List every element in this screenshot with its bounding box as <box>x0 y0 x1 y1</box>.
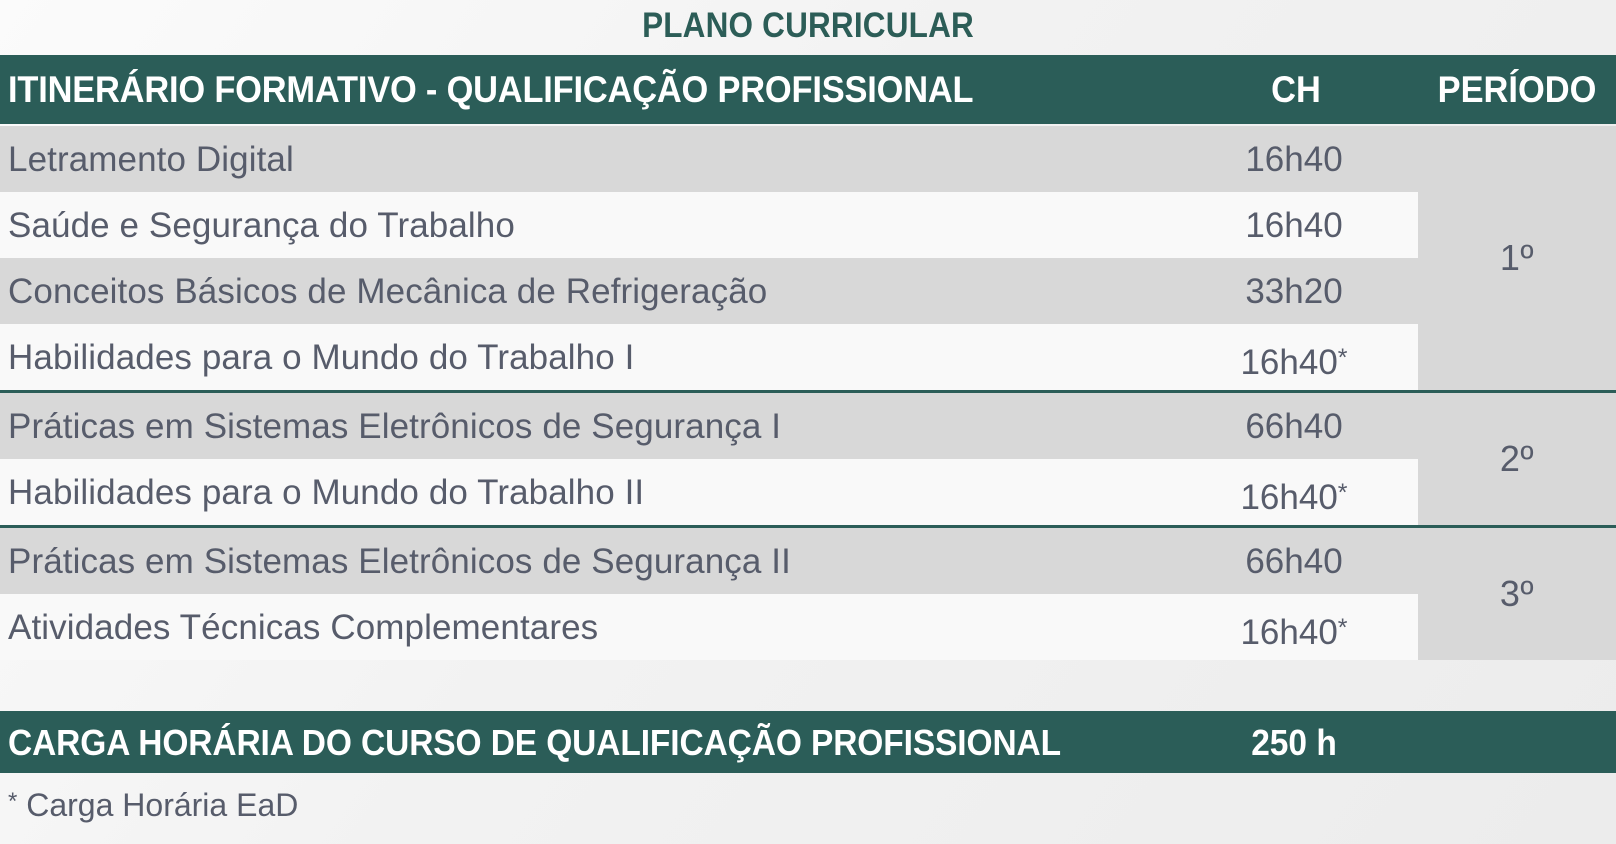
cell-discipline: Habilidades para o Mundo do Trabalho I <box>8 324 634 390</box>
cell-ch: 16h40* <box>1186 594 1402 660</box>
period-group: Práticas em Sistemas Eletrônicos de Segu… <box>0 525 1616 660</box>
cell-ch: 16h40 <box>1186 126 1402 192</box>
cell-ch: 33h20 <box>1186 258 1402 324</box>
cell-ch: 66h40 <box>1186 528 1402 594</box>
footnote: * Carga Horária EaD <box>8 773 298 833</box>
column-header-discipline: ITINERÁRIO FORMATIVO - QUALIFICAÇÃO PROF… <box>8 55 973 124</box>
table-row: Habilidades para o Mundo do Trabalho II1… <box>0 459 1418 525</box>
cell-discipline: Saúde e Segurança do Trabalho <box>8 192 515 258</box>
cell-ch: 66h40 <box>1186 393 1402 459</box>
footnote-marker: * <box>8 788 17 815</box>
ead-marker-icon: * <box>1338 479 1348 507</box>
table-row: Saúde e Segurança do Trabalho16h40 <box>0 192 1418 258</box>
cell-discipline: Conceitos Básicos de Mecânica de Refrige… <box>8 258 767 324</box>
cell-discipline: Habilidades para o Mundo do Trabalho II <box>8 459 644 525</box>
cell-ch-value: 16h40 <box>1240 343 1337 382</box>
table-body: Letramento Digital16h40Saúde e Segurança… <box>0 126 1616 711</box>
column-header-ch: CH <box>1197 55 1394 124</box>
table-row: Habilidades para o Mundo do Trabalho I16… <box>0 324 1418 390</box>
cell-ch: 16h40 <box>1186 192 1402 258</box>
cell-discipline: Letramento Digital <box>8 126 294 192</box>
period-group: Práticas em Sistemas Eletrônicos de Segu… <box>0 390 1616 525</box>
period-group: Letramento Digital16h40Saúde e Segurança… <box>0 126 1616 390</box>
column-header-period: PERÍODO <box>1425 55 1609 124</box>
total-value: 250 h <box>1194 711 1395 773</box>
period-group-rows: Práticas em Sistemas Eletrônicos de Segu… <box>0 528 1418 660</box>
plano-curricular-page: PLANO CURRICULAR ITINERÁRIO FORMATIVO - … <box>0 0 1616 844</box>
cell-period: 3º <box>1418 528 1616 660</box>
cell-ch-value: 16h40 <box>1240 478 1337 517</box>
page-title: PLANO CURRICULAR <box>81 0 1535 55</box>
cell-period: 2º <box>1418 393 1616 525</box>
cell-discipline: Atividades Técnicas Complementares <box>8 594 598 660</box>
table-row: Letramento Digital16h40 <box>0 126 1418 192</box>
total-label: CARGA HORÁRIA DO CURSO DE QUALIFICAÇÃO P… <box>8 711 1061 773</box>
table-header-row: ITINERÁRIO FORMATIVO - QUALIFICAÇÃO PROF… <box>0 55 1616 124</box>
ead-marker-icon: * <box>1338 344 1348 372</box>
period-group-rows: Letramento Digital16h40Saúde e Segurança… <box>0 126 1418 390</box>
table-row: Práticas em Sistemas Eletrônicos de Segu… <box>0 393 1418 459</box>
cell-period: 1º <box>1418 126 1616 390</box>
ead-marker-icon: * <box>1338 614 1348 642</box>
cell-ch-value: 66h40 <box>1245 542 1342 581</box>
cell-discipline: Práticas em Sistemas Eletrônicos de Segu… <box>8 393 781 459</box>
total-row: CARGA HORÁRIA DO CURSO DE QUALIFICAÇÃO P… <box>0 711 1616 773</box>
cell-ch: 16h40* <box>1186 324 1402 390</box>
cell-ch-value: 66h40 <box>1245 407 1342 446</box>
cell-ch-value: 33h20 <box>1245 272 1342 311</box>
cell-discipline: Práticas em Sistemas Eletrônicos de Segu… <box>8 528 791 594</box>
table-row: Atividades Técnicas Complementares16h40* <box>0 594 1418 660</box>
table-row: Conceitos Básicos de Mecânica de Refrige… <box>0 258 1418 324</box>
cell-ch-value: 16h40 <box>1245 140 1342 179</box>
footnote-text: Carga Horária EaD <box>17 787 298 823</box>
cell-ch: 16h40* <box>1186 459 1402 525</box>
cell-ch-value: 16h40 <box>1245 206 1342 245</box>
period-group-rows: Práticas em Sistemas Eletrônicos de Segu… <box>0 393 1418 525</box>
table-row: Práticas em Sistemas Eletrônicos de Segu… <box>0 528 1418 594</box>
cell-ch-value: 16h40 <box>1240 613 1337 652</box>
